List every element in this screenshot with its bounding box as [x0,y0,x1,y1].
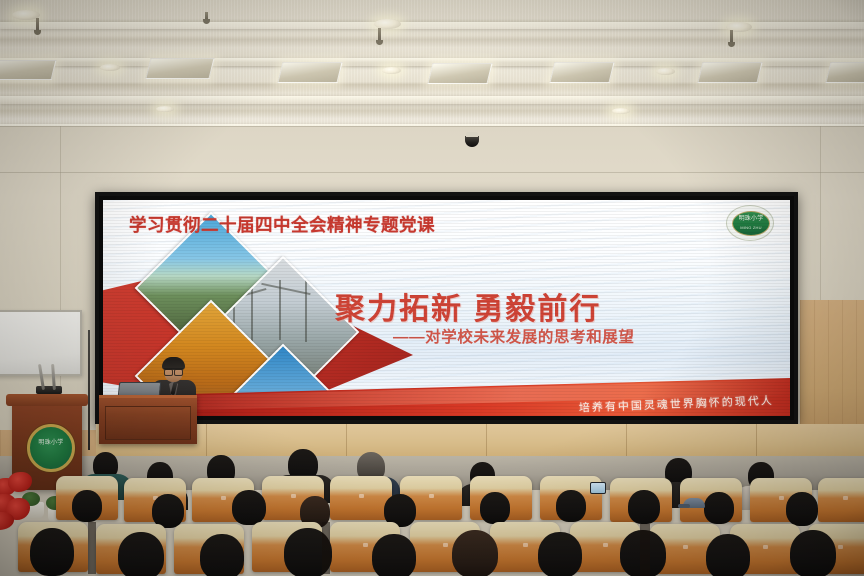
baseball-cap-icon [683,498,705,508]
ceiling-light-panel [549,62,614,83]
attendee-head [556,490,586,522]
attendee-head [786,492,818,526]
audience-area [0,430,864,576]
attendee-head [790,530,836,576]
sprinkler-head [378,28,381,42]
attendee-head [452,530,498,576]
smartphone-icon [590,482,606,494]
attendee-head [704,492,734,524]
sprinkler-head [36,18,39,32]
speaker-glasses-icon [164,368,183,374]
microphone-base [36,386,62,394]
attendee-head [232,490,266,525]
downlight [100,64,120,71]
auditorium-seat[interactable] [330,476,392,520]
attendee-head [480,492,510,524]
sprinkler-head [205,12,208,21]
attendee-head [372,534,416,576]
ceiling-light-panel [697,62,762,83]
ceiling-light-panel [427,63,492,84]
auditorium-seat[interactable] [818,478,864,522]
attendee-head [200,534,244,576]
ceiling-light-panel [0,60,56,80]
downlight [156,106,174,112]
seat-divider [322,522,330,574]
sprinkler-head [730,30,733,44]
ceiling-light-panel [825,62,864,83]
wall-seam [0,172,864,173]
slide-header-text: 学习贯彻二十届四中全会精神专题党课 [129,212,435,237]
ceiling [0,0,864,132]
attendee-head [152,494,184,528]
downlight [656,68,675,75]
slide-subtitle-text: ——对学校未来发展的思考和展望 [393,325,635,347]
ceiling-light-panel [145,58,214,79]
slide-title-text: 聚力拓新 勇毅前行 [335,284,601,328]
attendee-head [118,532,164,576]
auditorium-photo: 学习贯彻二十届四中全会精神专题党课 明珠小学 MING ZHU 聚力拓新 勇毅前… [0,0,864,576]
attendee-head [538,532,582,576]
attendee-head [30,528,74,576]
ceiling-light-panel [277,62,342,83]
ceiling-beam [0,96,864,104]
attendee-head [628,490,660,524]
seat-divider [88,522,96,574]
downlight [612,108,630,114]
school-logo-icon: 明珠小学 MING ZHU [726,205,774,241]
presentation-slide: 学习贯彻二十届四中全会精神专题党课 明珠小学 MING ZHU 聚力拓新 勇毅前… [103,200,790,416]
logo-text: 明珠小学 [733,216,769,223]
downlight [382,67,401,74]
attendee-head [706,534,750,576]
wall-seam [820,126,821,306]
lectern-top [6,394,88,406]
seat-divider [640,524,650,576]
wall-seam [0,126,864,127]
led-screen[interactable]: 学习贯彻二十届四中全会精神专题党课 明珠小学 MING ZHU 聚力拓新 勇毅前… [95,192,798,424]
logo-subtext: MING ZHU [733,224,769,231]
attendee-head [72,490,102,522]
